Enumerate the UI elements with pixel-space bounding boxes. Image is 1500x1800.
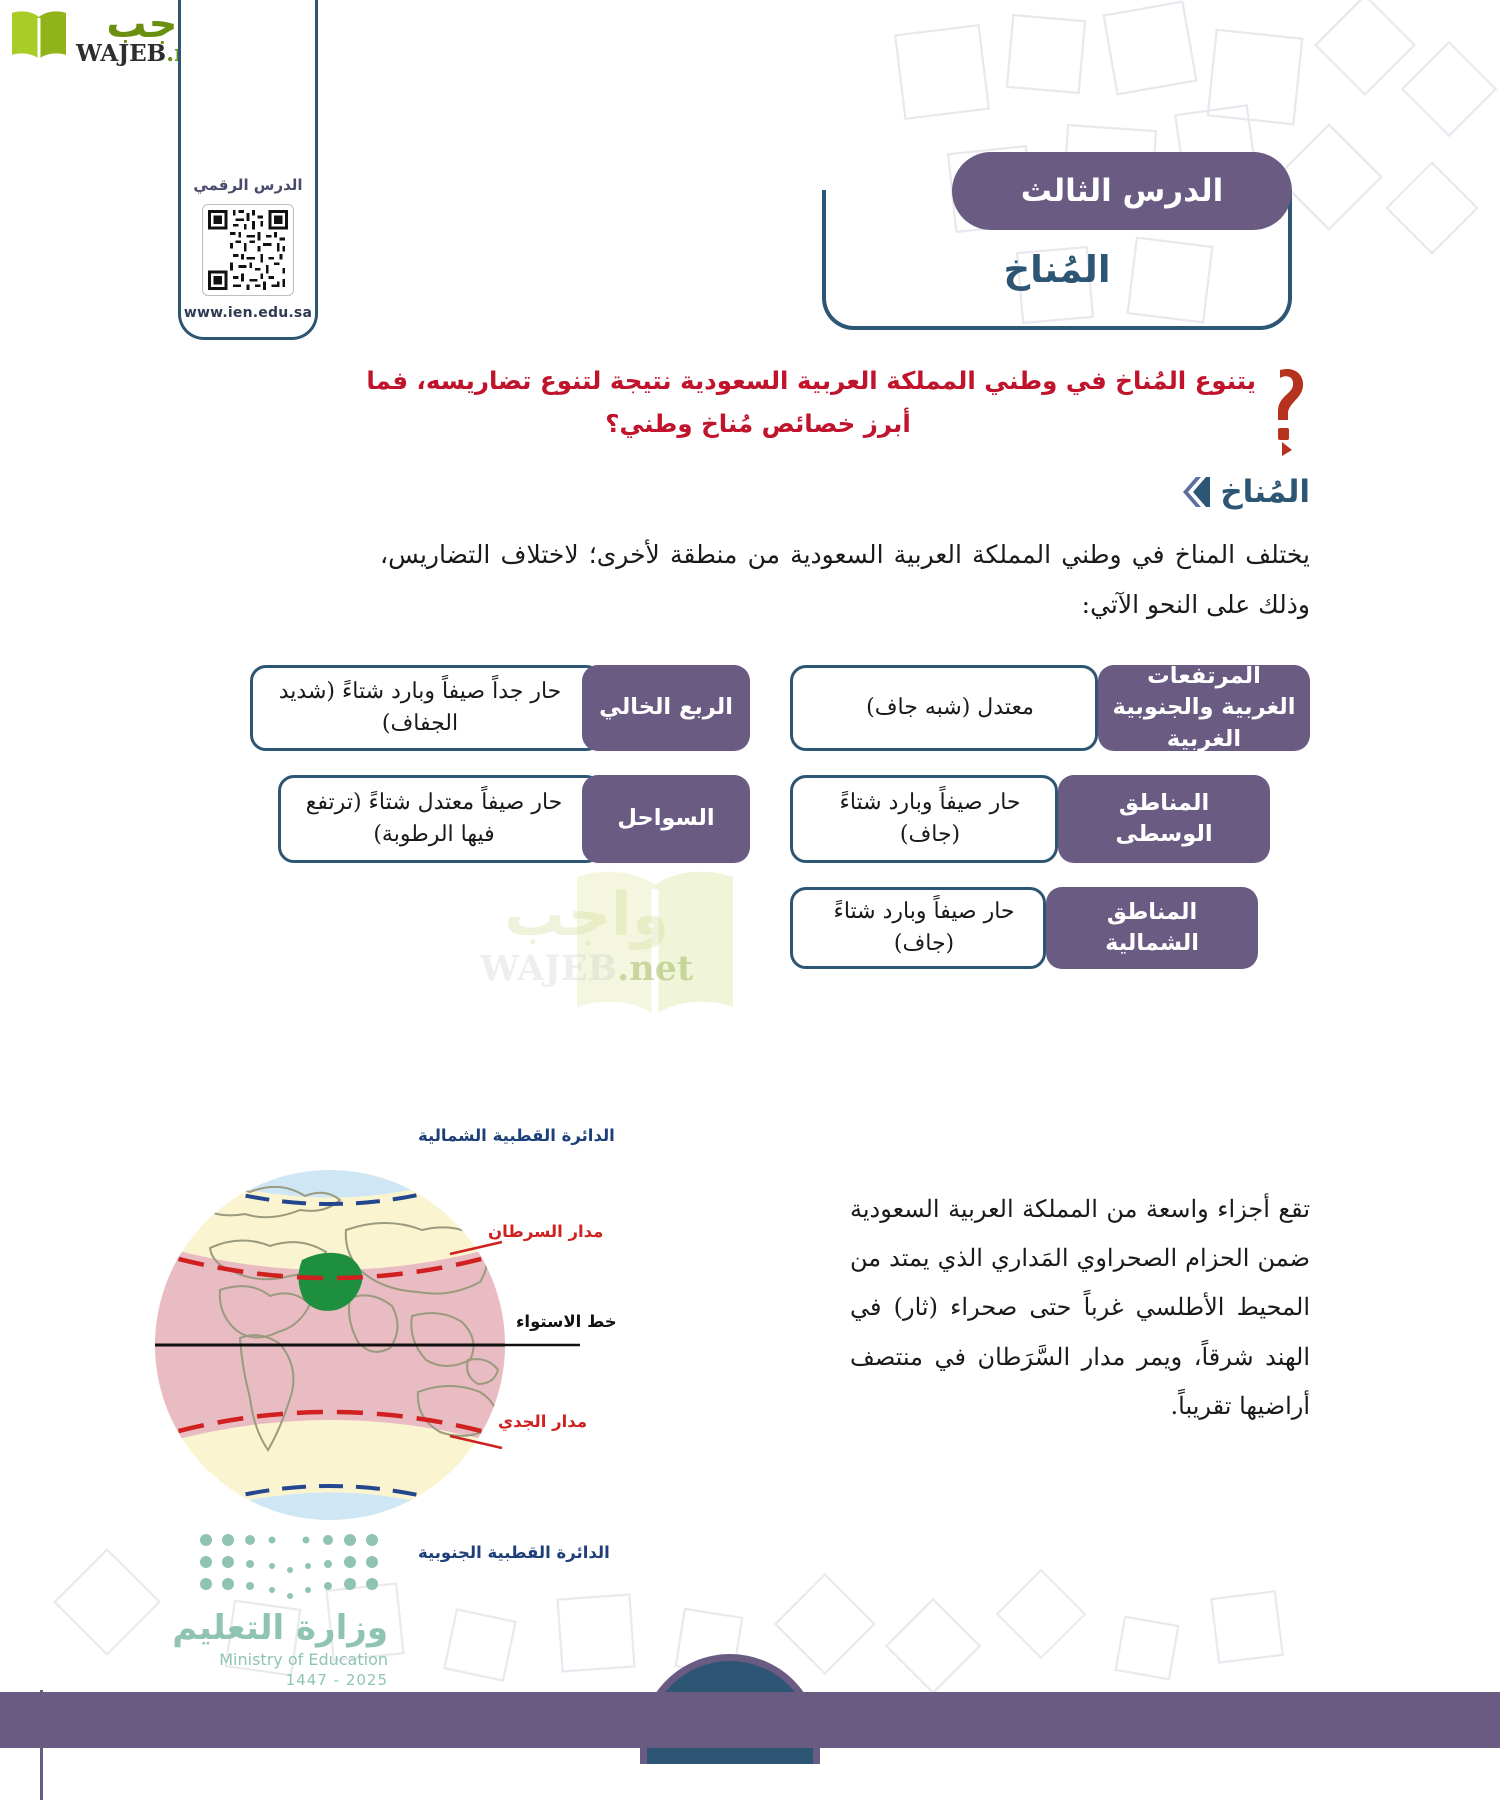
section-heading: المُناخ (1180, 474, 1310, 510)
book-icon (8, 7, 70, 63)
climate-description: حار صيفاً وبارد شتاءً (جاف) (790, 775, 1058, 863)
climate-region-tag: المناطق الوسطى (1058, 775, 1270, 863)
double-chevron-icon (1180, 475, 1210, 509)
globe-figure: الدائرة القطبية الشمالية مدار السرطان خط… (150, 1130, 670, 1560)
climate-column-right: المرتفعات الغربية والجنوبية الغربية معتد… (810, 665, 1310, 993)
opening-question: يتنوع المُناخ في وطني المملكة العربية ال… (260, 360, 1310, 460)
globe-label-tropic-of-capricorn: مدار الجدي (498, 1412, 587, 1431)
climate-row: المناطق الوسطى حار صيفاً وبارد شتاءً (جا… (810, 775, 1270, 863)
climate-description: حار صيفاً معتدل شتاءً (ترتفع فيها الرطوب… (278, 775, 602, 863)
climate-column-left: الربع الخالي حار جداً صيفاً وبارد شتاءً … (250, 665, 750, 887)
globe-label-equator: خط الاستواء (516, 1312, 617, 1331)
digital-lesson-label: الدرس الرقمي (193, 176, 302, 194)
climate-description: حار صيفاً وبارد شتاءً (جاف) (790, 887, 1046, 969)
climate-row: المناطق الشمالية حار صيفاً وبارد شتاءً (… (810, 887, 1258, 969)
digital-lesson-url[interactable]: www.ien.edu.sa (184, 305, 312, 321)
globe-label-north-polar: الدائرة القطبية الشمالية (418, 1126, 615, 1145)
climate-region-tag: المناطق الشمالية (1046, 887, 1258, 969)
intro-paragraph: يختلف المناخ في وطني المملكة العربية الس… (380, 530, 1310, 630)
footer-bar (0, 1692, 1500, 1748)
ministry-dots-icon (198, 1530, 388, 1600)
climate-region-tag: السواحل (582, 775, 750, 863)
textbook-page: واجب WAJEB.net واجب WAJEB.net الدرس الرق… (0, 0, 1500, 1800)
climate-description: حار جداً صيفاً وبارد شتاءً (شديد الجفاف) (250, 665, 602, 751)
section-heading-label: المُناخ (1220, 474, 1310, 510)
qr-code-icon[interactable] (202, 204, 294, 296)
page-title: المُناخ (822, 248, 1292, 291)
desert-belt-paragraph: تقع أجزاء واسعة من المملكة العربية السعو… (850, 1185, 1310, 1431)
question-mark-icon (1270, 360, 1310, 460)
ministry-years: 2025 - 1447 (88, 1671, 388, 1689)
ministry-name-english: Ministry of Education (88, 1650, 388, 1669)
digital-lesson-panel[interactable]: الدرس الرقمي (178, 0, 318, 340)
ministry-of-education-logo: وزارة التعليم Ministry of Education 2025… (88, 1530, 388, 1689)
lesson-badge: الدرس الثالث (952, 152, 1292, 230)
question-line-2: أبرز خصائص مُناخ وطني؟ (260, 403, 1256, 446)
question-text: يتنوع المُناخ في وطني المملكة العربية ال… (260, 360, 1256, 446)
question-line-1: يتنوع المُناخ في وطني المملكة العربية ال… (366, 366, 1256, 395)
climate-description: معتدل (شبه جاف) (790, 665, 1098, 751)
climate-row: الربع الخالي حار جداً صيفاً وبارد شتاءً … (250, 665, 750, 751)
climate-row: المرتفعات الغربية والجنوبية الغربية معتد… (810, 665, 1310, 751)
globe-label-south-polar: الدائرة القطبية الجنوبية (418, 1543, 610, 1562)
lesson-header: الدرس الثالث المُناخ (797, 152, 1292, 347)
globe-label-tropic-of-cancer: مدار السرطان (488, 1222, 603, 1241)
climate-region-tag: الربع الخالي (582, 665, 750, 751)
ministry-name-arabic: وزارة التعليم (88, 1608, 388, 1648)
climate-row: السواحل حار صيفاً معتدل شتاءً (ترتفع فيه… (278, 775, 750, 863)
climate-region-tag: المرتفعات الغربية والجنوبية الغربية (1098, 665, 1310, 751)
